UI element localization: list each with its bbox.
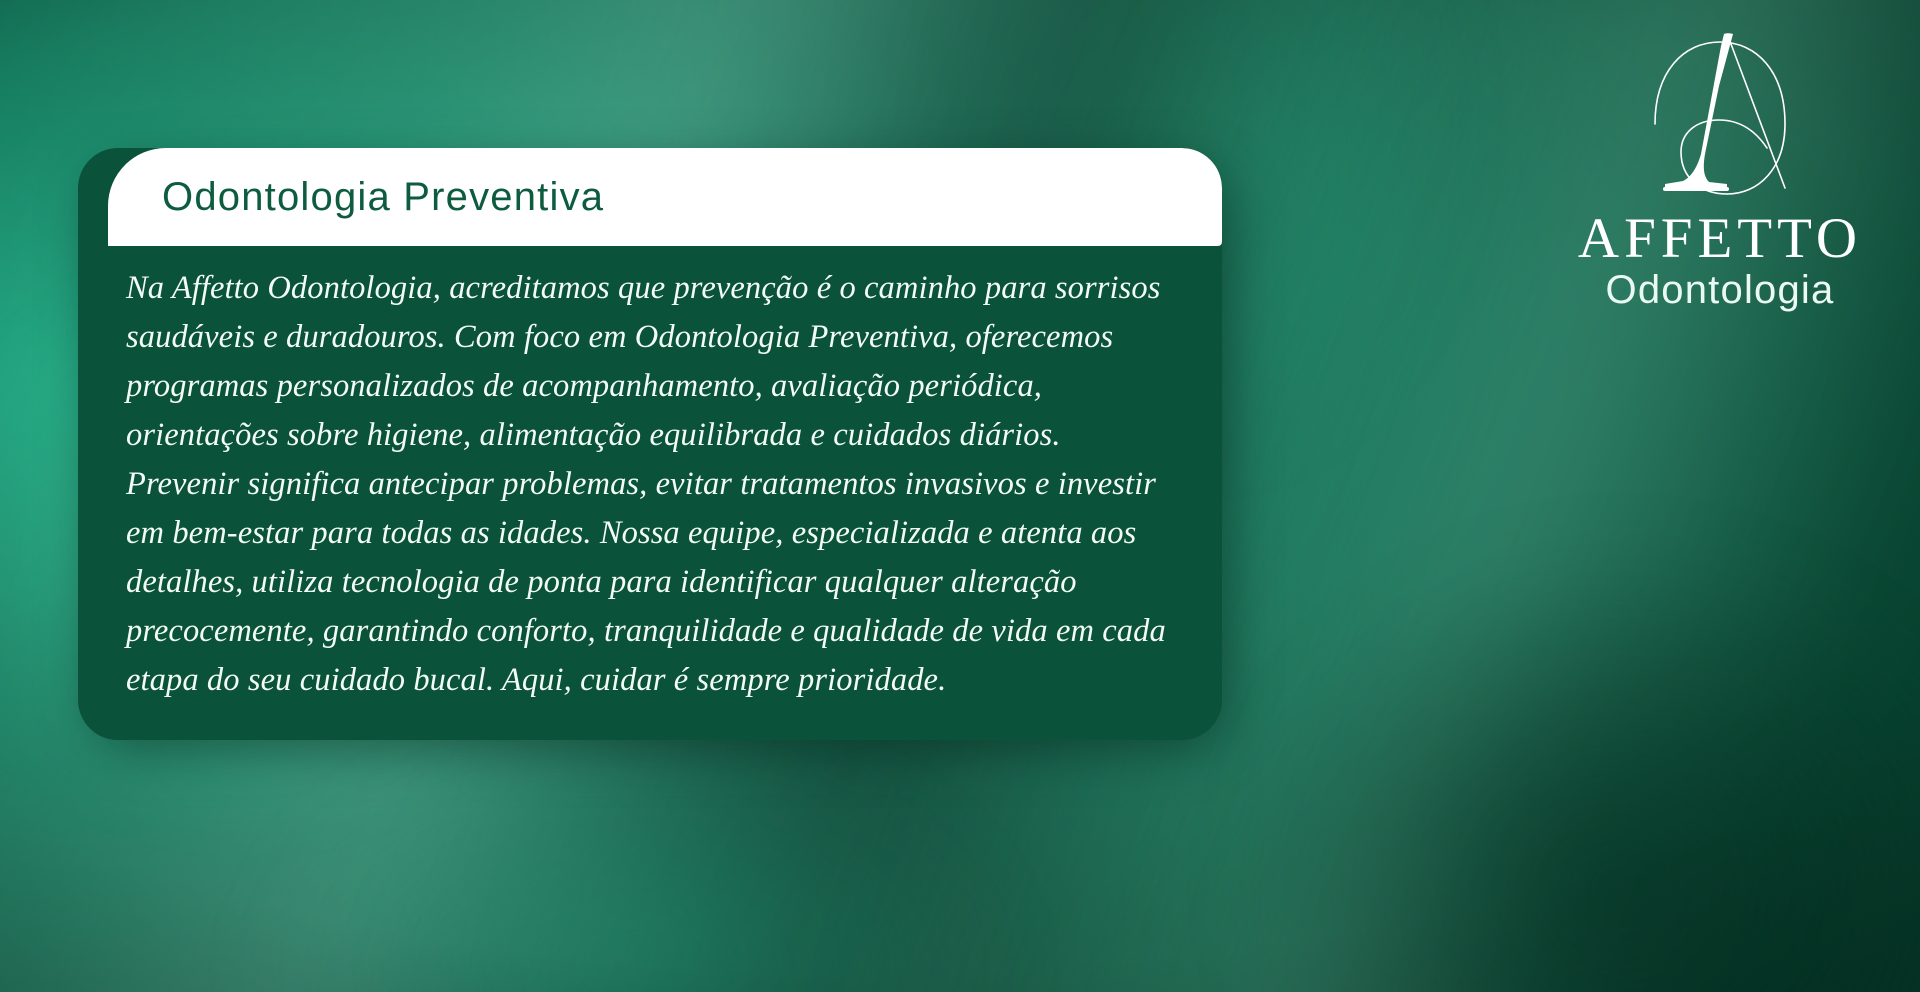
affetto-monogram-a-icon xyxy=(1627,28,1813,204)
card-body: Na Affetto Odontologia, acreditamos que … xyxy=(126,264,1176,705)
slide-canvas: Odontologia Preventiva Na Affetto Odonto… xyxy=(0,0,1920,992)
content-card: Odontologia Preventiva Na Affetto Odonto… xyxy=(78,148,1222,740)
page-title: Odontologia Preventiva xyxy=(162,175,604,220)
card-header-band: Odontologia Preventiva xyxy=(108,148,1222,246)
brand-subtitle: Odontologia xyxy=(1606,269,1835,311)
brand-logo: AFFETTO Odontologia xyxy=(1548,28,1892,311)
brand-wordmark: AFFETTO xyxy=(1578,210,1862,267)
body-paragraph: Na Affetto Odontologia, acreditamos que … xyxy=(126,264,1176,705)
